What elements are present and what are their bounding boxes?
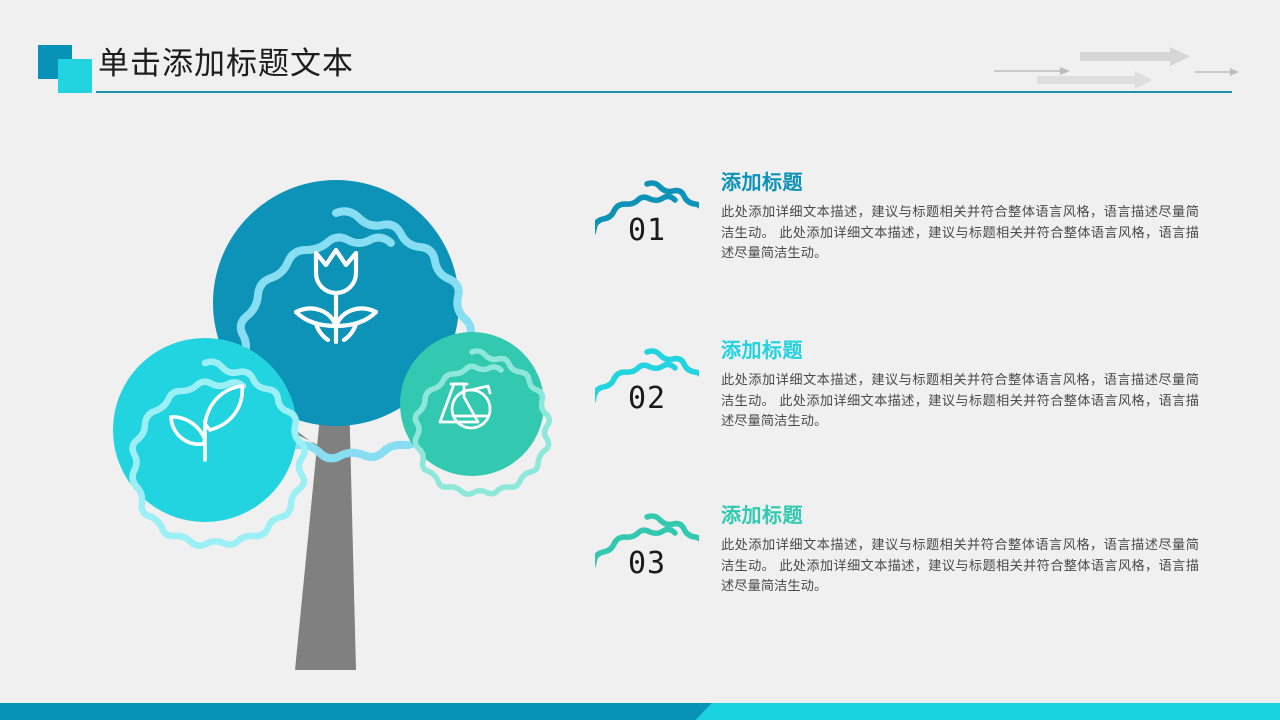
page-title: 单击添加标题文本 bbox=[98, 44, 354, 84]
item-body: 此处添加详细文本描述，建议与标题相关并符合整体语言风格，语言描述尽量简洁生动。 … bbox=[721, 535, 1199, 597]
item-text-block: 添加标题 此处添加详细文本描述，建议与标题相关并符合整体语言风格，语言描述尽量简… bbox=[721, 170, 1199, 264]
footer-left-segment bbox=[0, 703, 712, 720]
item-text-block: 添加标题 此处添加详细文本描述，建议与标题相关并符合整体语言风格，语言描述尽量简… bbox=[721, 338, 1199, 432]
title-underline-rule bbox=[96, 91, 1232, 93]
list-item[interactable]: 01 添加标题 此处添加详细文本描述，建议与标题相关并符合整体语言风格，语言描述… bbox=[595, 170, 1215, 300]
item-title: 添加标题 bbox=[721, 170, 1199, 196]
arrow-thick-bottom-icon bbox=[1037, 71, 1153, 89]
item-text-block: 添加标题 此处添加详细文本描述，建议与标题相关并符合整体语言风格，语言描述尽量简… bbox=[721, 503, 1199, 597]
badge-number-label: 01 bbox=[595, 178, 699, 282]
footer-bar bbox=[0, 703, 1280, 720]
number-badge: 02 bbox=[595, 346, 699, 450]
logo-square-light bbox=[58, 59, 92, 93]
badge-number-label: 03 bbox=[595, 511, 699, 615]
list-item[interactable]: 02 添加标题 此处添加详细文本描述，建议与标题相关并符合整体语言风格，语言描述… bbox=[595, 338, 1215, 468]
arrow-thick-top-icon bbox=[1080, 47, 1190, 66]
arrow-thin-long-icon bbox=[994, 67, 1070, 75]
item-body: 此处添加详细文本描述，建议与标题相关并符合整体语言风格，语言描述尽量简洁生动。 … bbox=[721, 370, 1199, 432]
number-badge: 01 bbox=[595, 178, 699, 282]
logo-mark bbox=[38, 45, 96, 93]
badge-number-label: 02 bbox=[595, 346, 699, 450]
content-items-list: 01 添加标题 此处添加详细文本描述，建议与标题相关并符合整体语言风格，语言描述… bbox=[595, 170, 1215, 670]
item-title: 添加标题 bbox=[721, 338, 1199, 364]
tree-illustration bbox=[90, 150, 570, 680]
number-badge: 03 bbox=[595, 511, 699, 615]
slide-canvas: 单击添加标题文本 bbox=[0, 0, 1280, 720]
decorative-arrows bbox=[990, 46, 1240, 90]
crown-right-flask bbox=[400, 332, 549, 494]
list-item[interactable]: 03 添加标题 此处添加详细文本描述，建议与标题相关并符合整体语言风格，语言描述… bbox=[595, 503, 1215, 633]
footer-right-segment bbox=[696, 703, 1280, 720]
arrow-thin-short-icon bbox=[1195, 68, 1239, 76]
item-title: 添加标题 bbox=[721, 503, 1199, 529]
item-body: 此处添加详细文本描述，建议与标题相关并符合整体语言风格，语言描述尽量简洁生动。 … bbox=[721, 202, 1199, 264]
slide-header: 单击添加标题文本 bbox=[0, 0, 1280, 110]
